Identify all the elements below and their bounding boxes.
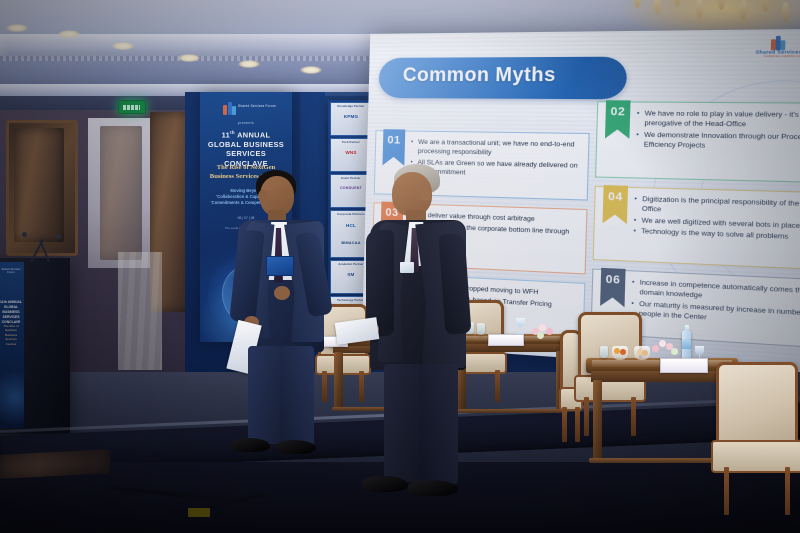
right-trouser-leg (420, 364, 458, 484)
name-card (488, 334, 524, 346)
fruit-bowl (612, 346, 628, 360)
microphone-head (56, 234, 61, 239)
sponsor-category: Knowledge Partner (331, 105, 371, 108)
podium-glow (0, 368, 24, 428)
ceiling-downlight (112, 42, 134, 50)
banner-annual: ANNUAL (237, 130, 270, 139)
podium-title: 11th ANNUAL GLOBAL BUSINESS SERVICES CON… (0, 300, 22, 325)
speaker-standing-left (214, 170, 324, 460)
sponsor-cell: Knowledge Partner KPMG (330, 102, 372, 136)
ear (258, 190, 268, 202)
banner-logo: Shared Services Forum (223, 102, 269, 118)
ceiling-downlight (300, 66, 322, 74)
conference-badge (266, 256, 294, 276)
ear (420, 188, 431, 201)
banner-logo-text: Shared Services Forum (238, 104, 276, 108)
ssf-logo-mark (223, 102, 236, 116)
shoe (232, 438, 270, 452)
wine-glass (516, 318, 525, 334)
sponsor-logo: WNS (331, 150, 371, 155)
exit-sign (118, 100, 146, 114)
door-wood-inset (100, 126, 142, 260)
left-trouser-leg (384, 364, 422, 482)
ceiling-downlight (6, 24, 28, 32)
shoe (362, 476, 408, 492)
podium-logo: Shared Services Forum (0, 268, 22, 278)
ceiling-downlight (58, 30, 80, 38)
microphone-head (22, 232, 27, 237)
banner-edition: 11 (222, 130, 231, 139)
drinking-glass (477, 323, 485, 335)
banner-presents: presents (200, 121, 292, 125)
wood-wall-panel-inner (14, 128, 64, 242)
podium-theme: The Rise of NextGen Business Services Ce… (0, 324, 22, 346)
side-table (452, 334, 570, 418)
shoe (408, 480, 458, 496)
podium-title-line1: 11th ANNUAL GLOBAL (0, 300, 22, 309)
flower-arrangement (652, 340, 678, 356)
curtain (118, 252, 162, 370)
ceiling-downlight (238, 60, 260, 68)
sponsor-logo: KPMG (331, 114, 371, 119)
gaffer-tape (188, 508, 210, 517)
banner-title-line1: GLOBAL BUSINESS (208, 140, 284, 149)
drinking-glass (600, 346, 608, 358)
pocket-square (400, 262, 414, 273)
flower-arrangement (532, 324, 558, 340)
water-bottle (682, 330, 691, 360)
podium-title-line2: BUSINESS SERVICES (2, 310, 19, 319)
podium-branding-panel: Shared Services Forum 11th ANNUAL GLOBAL… (0, 262, 24, 428)
speaker-standing-right (354, 164, 466, 510)
right-trouser-leg (280, 346, 314, 446)
sponsor-category: Tech Partner (331, 141, 371, 144)
fruit-bowl (634, 346, 650, 360)
ceiling-downlight (178, 54, 200, 62)
name-card (660, 358, 708, 373)
banner-title: 11th ANNUAL GLOBAL BUSINESS SERVICES CON… (204, 128, 288, 168)
conference-photo-scene: Shared Services Forum presents 11th ANNU… (0, 0, 800, 533)
shoe (276, 440, 316, 454)
banner-edition-suffix: th (230, 130, 235, 135)
left-trouser-leg (248, 346, 282, 444)
chair (716, 362, 798, 512)
hand (274, 286, 290, 300)
